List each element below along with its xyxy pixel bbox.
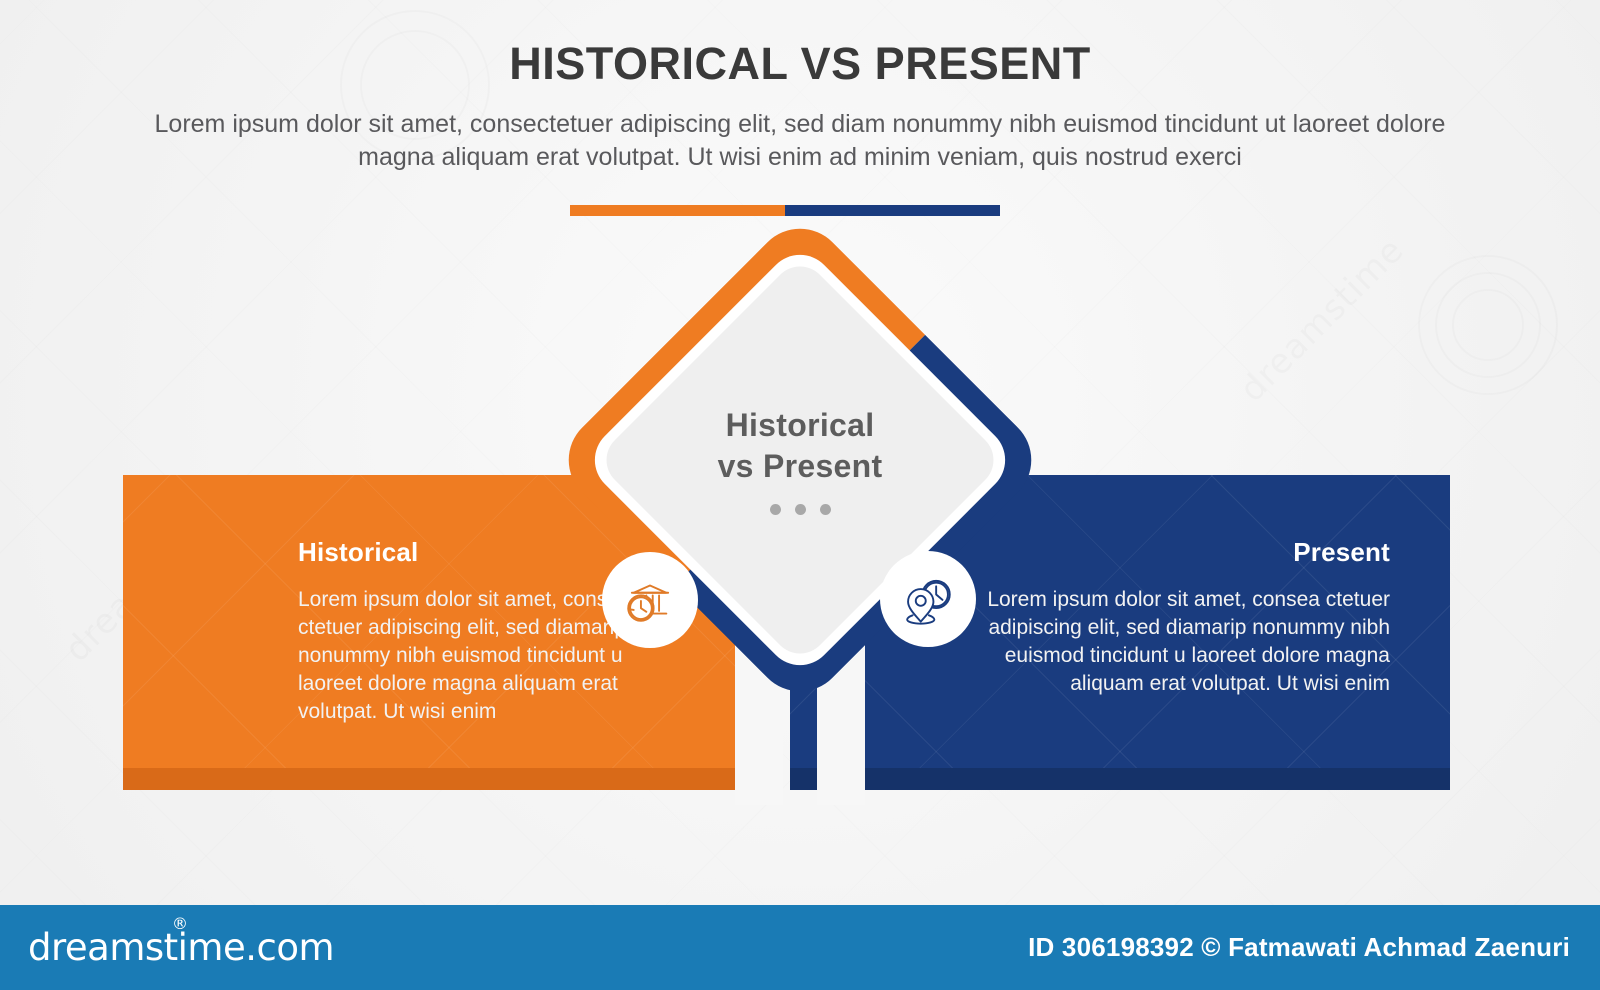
diamond-label-line2: vs Present: [718, 446, 883, 487]
divider-navy-half: [785, 205, 1000, 216]
dreamstime-logo[interactable]: dreamstime.com ®: [28, 926, 334, 969]
panel-historical-footer-bar: [123, 768, 775, 790]
panel-present-text: Lorem ipsum dolor sit amet, consea ctetu…: [955, 586, 1390, 698]
infographic-canvas: dreamstime dreamstime HISTORICAL VS PRES…: [0, 0, 1600, 990]
watermark-spiral: [1418, 255, 1558, 395]
panel-present-footer-bar: [790, 768, 1450, 790]
dot-3: [820, 504, 831, 515]
page-subtitle: Lorem ipsum dolor sit amet, consectetuer…: [140, 108, 1460, 175]
page-title: HISTORICAL VS PRESENT: [0, 38, 1600, 90]
divider-orange-half: [570, 205, 785, 216]
panel-historical-heading: Historical: [298, 537, 665, 568]
footer-credit: ID 306198392 © Fatmawati Achmad Zaenuri: [1028, 932, 1570, 963]
registered-mark-icon: ®: [172, 914, 188, 933]
location-pin-clock-icon: [899, 570, 957, 628]
footer-bar: dreamstime.com ® ID 306198392 © Fatmawat…: [0, 905, 1600, 990]
accent-divider: [570, 205, 1000, 216]
dot-1: [770, 504, 781, 515]
diamond-dots: [770, 504, 831, 515]
icon-circle-historical[interactable]: [602, 552, 698, 648]
watermark-spiral: [1452, 289, 1524, 361]
watermark-spiral: [1435, 272, 1541, 378]
icon-circle-present[interactable]: [880, 551, 976, 647]
diamond-label-line1: Historical: [726, 405, 875, 446]
dot-2: [795, 504, 806, 515]
panel-present-heading: Present: [955, 537, 1390, 568]
watermark-text: dreamstime: [1232, 230, 1412, 410]
bank-clock-history-icon: [621, 571, 679, 629]
